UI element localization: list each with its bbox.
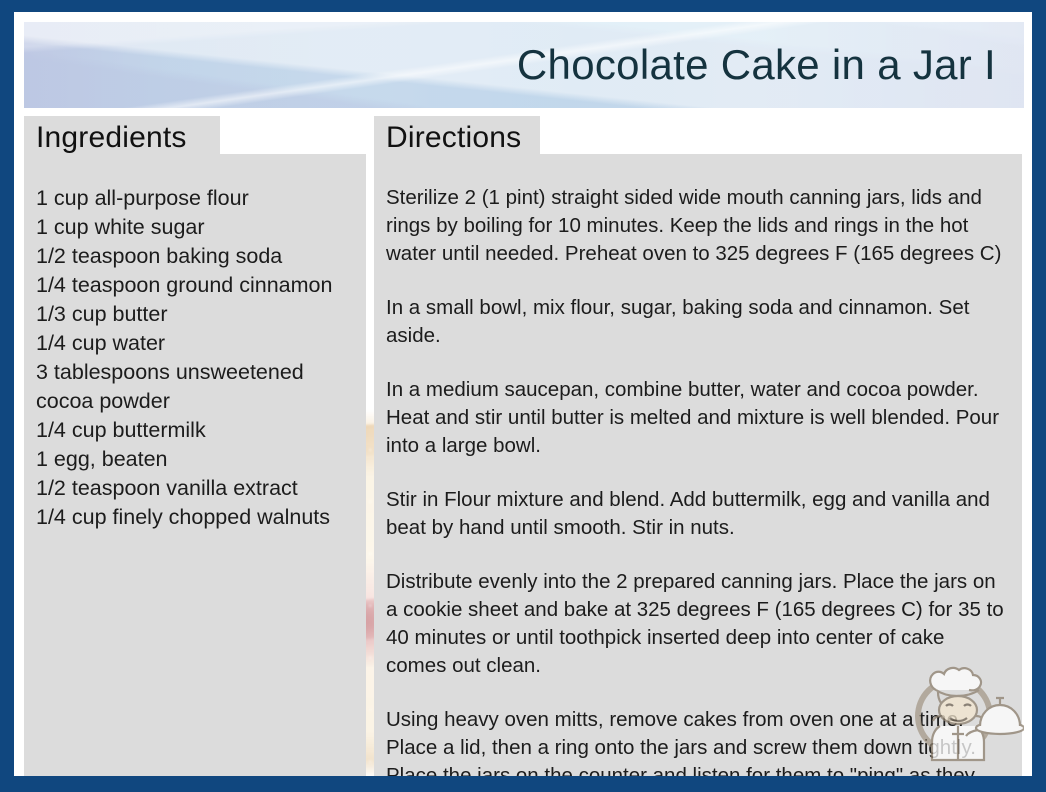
directions-text: Sterilize 2 (1 pint) straight sided wide… bbox=[386, 184, 1008, 776]
list-item: 3 tablespoons unsweetened bbox=[36, 358, 352, 387]
list-item: cocoa powder bbox=[36, 387, 352, 416]
list-item: 1 cup white sugar bbox=[36, 213, 352, 242]
direction-step: Distribute evenly into the 2 prepared ca… bbox=[386, 568, 1008, 680]
list-item: 1 cup all-purpose flour bbox=[36, 184, 352, 213]
list-item: 1/4 cup buttermilk bbox=[36, 416, 352, 445]
list-item: 1/3 cup butter bbox=[36, 300, 352, 329]
list-item: 1/4 cup water bbox=[36, 329, 352, 358]
direction-step: Stir in Flour mixture and blend. Add but… bbox=[386, 486, 1008, 542]
directions-content: Sterilize 2 (1 pint) straight sided wide… bbox=[374, 154, 1022, 776]
direction-step: Sterilize 2 (1 pint) straight sided wide… bbox=[386, 184, 1008, 268]
direction-step: In a small bowl, mix flour, sugar, bakin… bbox=[386, 294, 1008, 350]
recipe-card-inner: Chocolate Cake in a Jar I 1 cup all-purp… bbox=[14, 12, 1032, 776]
ingredients-content: 1 cup all-purpose flour 1 cup white suga… bbox=[24, 154, 366, 532]
direction-step: In a medium saucepan, combine butter, wa… bbox=[386, 376, 1008, 460]
list-item: 1 egg, beaten bbox=[36, 445, 352, 474]
directions-column: Sterilize 2 (1 pint) straight sided wide… bbox=[374, 116, 1022, 776]
ingredients-panel: 1 cup all-purpose flour 1 cup white suga… bbox=[24, 154, 366, 776]
directions-heading: Directions bbox=[374, 121, 521, 155]
ingredient-list: 1 cup all-purpose flour 1 cup white suga… bbox=[36, 184, 352, 532]
directions-heading-tab: Directions bbox=[374, 116, 540, 160]
page-title: Chocolate Cake in a Jar I bbox=[517, 41, 996, 89]
header-banner: Chocolate Cake in a Jar I bbox=[24, 22, 1024, 108]
list-item: 1/4 teaspoon ground cinnamon bbox=[36, 271, 352, 300]
recipe-columns: 1 cup all-purpose flour 1 cup white suga… bbox=[14, 116, 1032, 776]
ingredients-heading: Ingredients bbox=[24, 121, 187, 155]
list-item: 1/2 teaspoon baking soda bbox=[36, 242, 352, 271]
list-item: 1/2 teaspoon vanilla extract bbox=[36, 474, 352, 503]
directions-panel: Sterilize 2 (1 pint) straight sided wide… bbox=[374, 154, 1022, 776]
ingredients-heading-tab: Ingredients bbox=[24, 116, 220, 160]
direction-step: Using heavy oven mitts, remove cakes fro… bbox=[386, 706, 1008, 776]
recipe-card: Chocolate Cake in a Jar I 1 cup all-purp… bbox=[0, 0, 1046, 792]
ingredients-column: 1 cup all-purpose flour 1 cup white suga… bbox=[24, 116, 366, 776]
list-item: 1/4 cup finely chopped walnuts bbox=[36, 503, 352, 532]
